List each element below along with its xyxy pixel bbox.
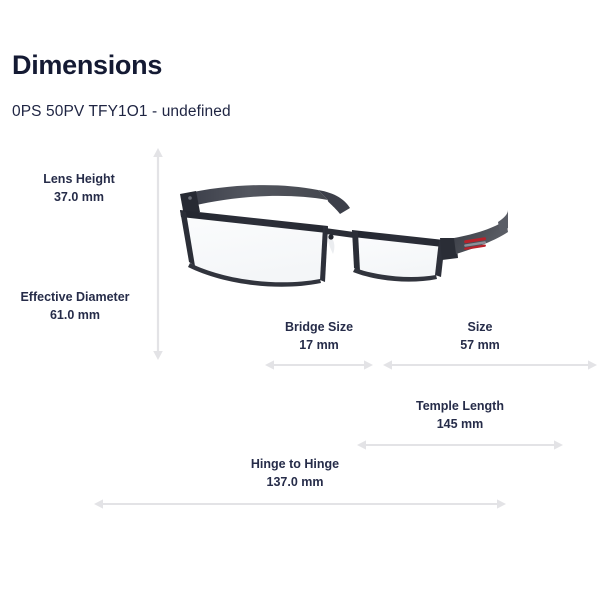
measurement-hinge-to-hinge: Hinge to Hinge 137.0 mm	[135, 455, 455, 491]
measurement-temple-length: Temple Length 145 mm	[355, 397, 565, 433]
measurement-name: Size	[425, 318, 535, 336]
measurement-lens-height: Lens Height 37.0 mm	[3, 170, 155, 206]
measurement-name: Effective Diameter	[0, 288, 150, 306]
temple-length-arrow	[356, 437, 564, 453]
page-subtitle: 0PS 50PV TFY1O1 - undefined	[12, 104, 231, 120]
size-arrow	[382, 357, 598, 373]
hinge-to-hinge-arrow	[93, 496, 507, 512]
measurement-value: 137.0 mm	[135, 473, 455, 491]
left-temple-arm	[184, 185, 328, 206]
measurement-value: 37.0 mm	[3, 188, 155, 206]
left-hinge-screw	[188, 196, 192, 200]
eyeglasses-icon	[168, 176, 508, 304]
measurement-effective-diameter: Effective Diameter 61.0 mm	[0, 288, 150, 324]
measurement-value: 61.0 mm	[0, 306, 150, 324]
measurement-size: Size 57 mm	[425, 318, 535, 354]
left-temple-bend	[318, 190, 350, 214]
measurement-value: 145 mm	[355, 415, 565, 433]
bridge-size-arrow	[264, 357, 374, 373]
measurement-name: Hinge to Hinge	[135, 455, 455, 473]
left-nose-pad-arm	[328, 234, 333, 239]
measurement-value: 17 mm	[264, 336, 374, 354]
page-title: Dimensions	[12, 52, 162, 79]
measurement-bridge-size: Bridge Size 17 mm	[264, 318, 374, 354]
measurement-name: Lens Height	[3, 170, 155, 188]
measurement-name: Temple Length	[355, 397, 565, 415]
eyeglasses-image	[168, 176, 508, 304]
measurement-name: Bridge Size	[264, 318, 374, 336]
measurement-value: 57 mm	[425, 336, 535, 354]
